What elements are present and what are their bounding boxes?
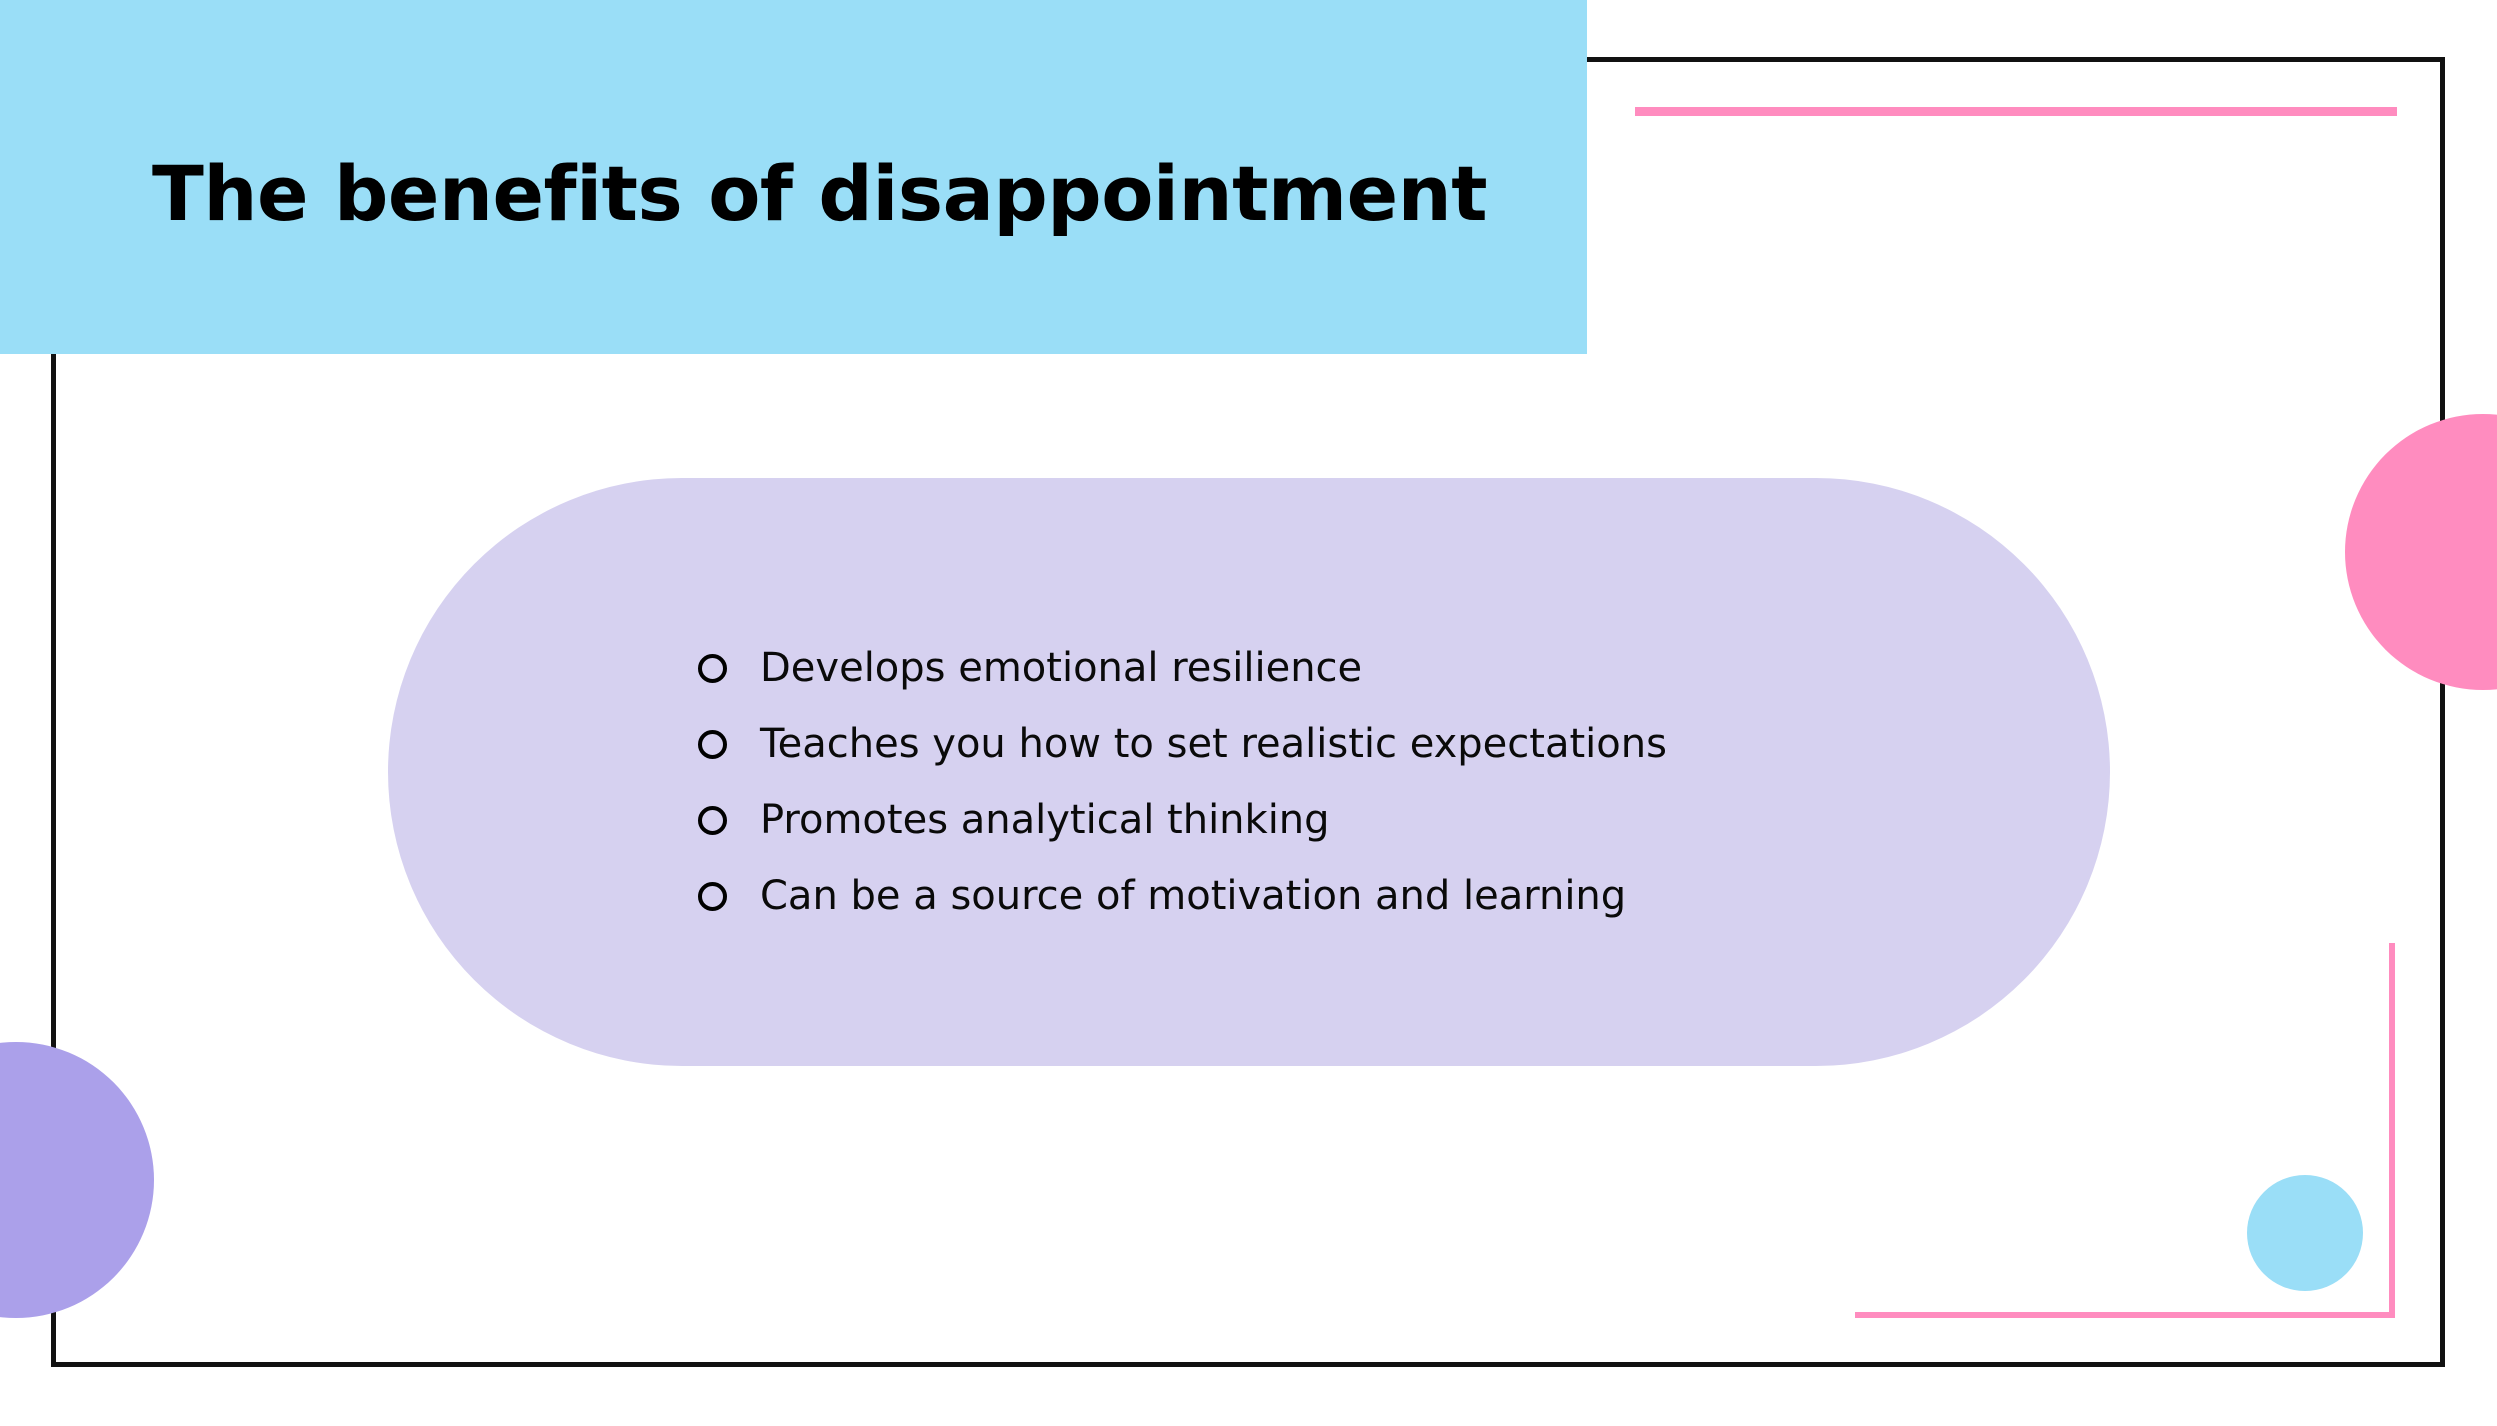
purple-half-circle-icon (0, 1042, 154, 1318)
pink-bracket-vertical-segment (2389, 943, 2395, 1318)
list-item-label: Promotes analytical thinking (760, 800, 1330, 840)
list-item: Can be a source of motivation and learni… (698, 858, 1667, 934)
list-item: Teaches you how to set realistic expecta… (698, 706, 1667, 782)
list-item: Promotes analytical thinking (698, 782, 1667, 858)
slide-canvas: Develops emotional resilience Teaches yo… (0, 0, 2497, 1426)
list-item-label: Can be a source of motivation and learni… (760, 876, 1626, 916)
benefits-bullet-list: Develops emotional resilience Teaches yo… (698, 630, 1667, 934)
pink-half-circle-icon (2345, 414, 2497, 690)
hollow-circle-bullet-icon (698, 882, 727, 911)
hollow-circle-bullet-icon (698, 654, 727, 683)
light-blue-circle-icon (2247, 1175, 2363, 1291)
title-band: The benefits of disappointment (0, 0, 1587, 354)
pink-horizontal-rule-icon (1635, 107, 2397, 116)
hollow-circle-bullet-icon (698, 806, 727, 835)
list-item-label: Teaches you how to set realistic expecta… (760, 724, 1667, 764)
pink-bracket-horizontal-segment (1855, 1312, 2395, 1318)
list-item-label: Develops emotional resilience (760, 648, 1362, 688)
list-item: Develops emotional resilience (698, 630, 1667, 706)
hollow-circle-bullet-icon (698, 730, 727, 759)
content-card: Develops emotional resilience Teaches yo… (388, 478, 2110, 1066)
page-title: The benefits of disappointment (152, 154, 1487, 234)
